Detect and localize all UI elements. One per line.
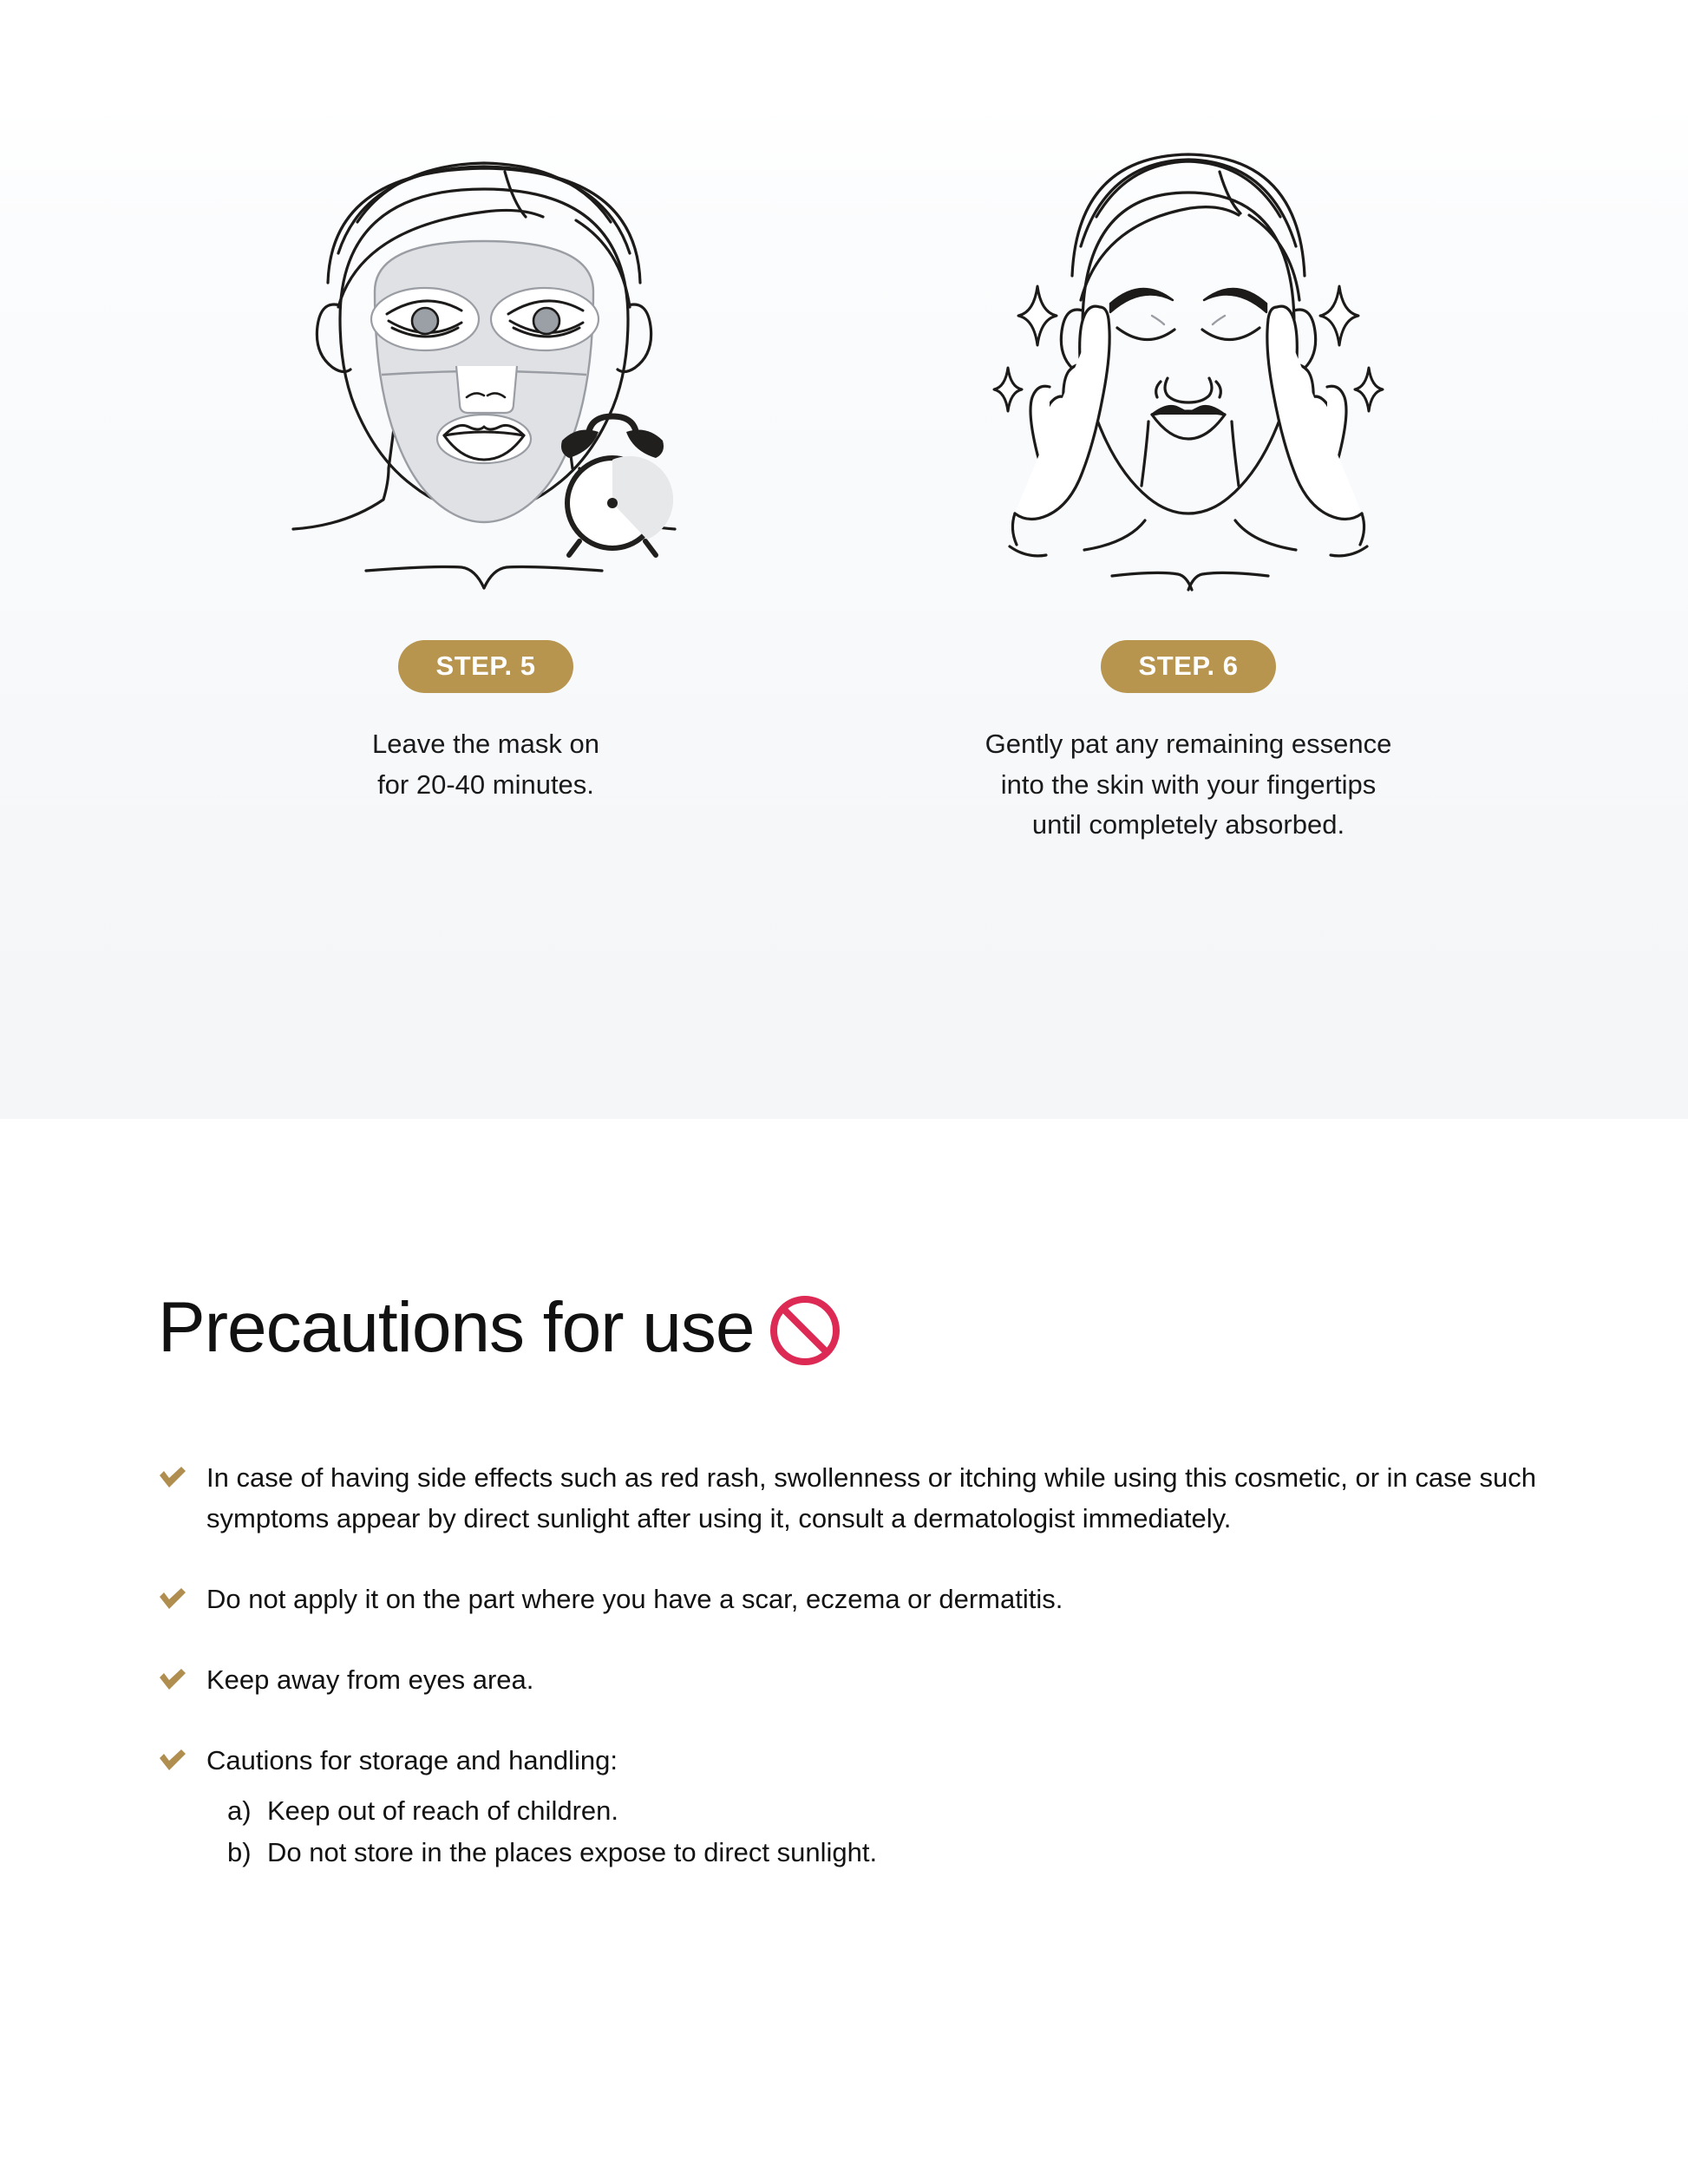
precaution-text: Do not apply it on the part where you ha… <box>206 1579 1546 1619</box>
check-icon <box>158 1668 187 1692</box>
step-caption-5: Leave the mask on for 20-40 minutes. <box>372 724 599 805</box>
precaution-body: In case of having side effects such as r… <box>206 1457 1546 1539</box>
sparkle-icon <box>994 368 1022 411</box>
precaution-body: Keep away from eyes area. <box>206 1659 1546 1700</box>
right-hand <box>1267 306 1367 556</box>
step-caption-line: for 20-40 minutes. <box>372 765 599 806</box>
face-mask-clock-svg <box>286 121 685 624</box>
check-icon <box>158 1749 187 1773</box>
sub-item-text: Keep out of reach of children. <box>267 1790 618 1832</box>
nose-cutout <box>456 366 517 413</box>
page-root: STEP. 5 Leave the mask on for 20-40 minu… <box>0 0 1688 2184</box>
step-caption-6: Gently pat any remaining essence into th… <box>985 724 1392 846</box>
sub-item-marker: b) <box>227 1832 267 1873</box>
precaution-item: Cautions for storage and handling: a) Ke… <box>158 1740 1546 1873</box>
sparkle-icon <box>1018 286 1057 345</box>
step-caption-line: Leave the mask on <box>372 724 599 765</box>
step-badge-5[interactable]: STEP. 5 <box>398 640 574 693</box>
prohibition-icon <box>767 1292 843 1369</box>
precaution-body: Do not apply it on the part where you ha… <box>206 1579 1546 1619</box>
sub-item-marker: a) <box>227 1790 267 1832</box>
sparkle-icon <box>1355 368 1383 411</box>
step-caption-line: into the skin with your fingertips <box>985 765 1392 806</box>
sparkle-icon <box>1320 286 1358 345</box>
step-caption-line: Gently pat any remaining essence <box>985 724 1392 765</box>
sparkle-icon-group <box>994 286 1383 411</box>
precaution-text: Keep away from eyes area. <box>206 1659 1546 1700</box>
precaution-sub-list: a) Keep out of reach of children. b) Do … <box>206 1790 1546 1874</box>
page-title: Precautions for use <box>158 1292 755 1363</box>
step-badge-6[interactable]: STEP. 6 <box>1101 640 1277 693</box>
precaution-text: Cautions for storage and handling: <box>206 1740 1546 1781</box>
steps-panel: STEP. 5 Leave the mask on for 20-40 minu… <box>0 0 1688 1119</box>
precaution-body: Cautions for storage and handling: a) Ke… <box>206 1740 1546 1873</box>
precautions-heading: Precautions for use <box>158 1287 843 1369</box>
precautions-list: In case of having side effects such as r… <box>158 1457 1546 1873</box>
illustration-pat-face <box>989 104 1388 624</box>
precaution-text: In case of having side effects such as r… <box>206 1457 1546 1539</box>
check-icon <box>158 1587 187 1612</box>
precaution-sub-item: b) Do not store in the places expose to … <box>227 1832 1546 1873</box>
face-hands-sparkles-svg <box>989 121 1388 624</box>
illustration-mask-on-face <box>286 104 685 624</box>
step-caption-line: until completely absorbed. <box>985 805 1392 846</box>
precautions-section: Precautions for use In case of having si… <box>0 1119 1688 2184</box>
step-card-6: STEP. 6 Gently pat any remaining essence… <box>885 104 1492 846</box>
step-card-5: STEP. 5 Leave the mask on for 20-40 minu… <box>182 104 789 805</box>
alarm-clock-icon <box>561 416 673 555</box>
precaution-item: Keep away from eyes area. <box>158 1659 1546 1700</box>
precaution-item: Do not apply it on the part where you ha… <box>158 1579 1546 1619</box>
precaution-sub-item: a) Keep out of reach of children. <box>227 1790 1546 1832</box>
sub-item-text: Do not store in the places expose to dir… <box>267 1832 877 1873</box>
precaution-item: In case of having side effects such as r… <box>158 1457 1546 1539</box>
check-icon <box>158 1466 187 1490</box>
left-hand <box>1010 306 1109 556</box>
mouth-cutout <box>437 415 531 463</box>
